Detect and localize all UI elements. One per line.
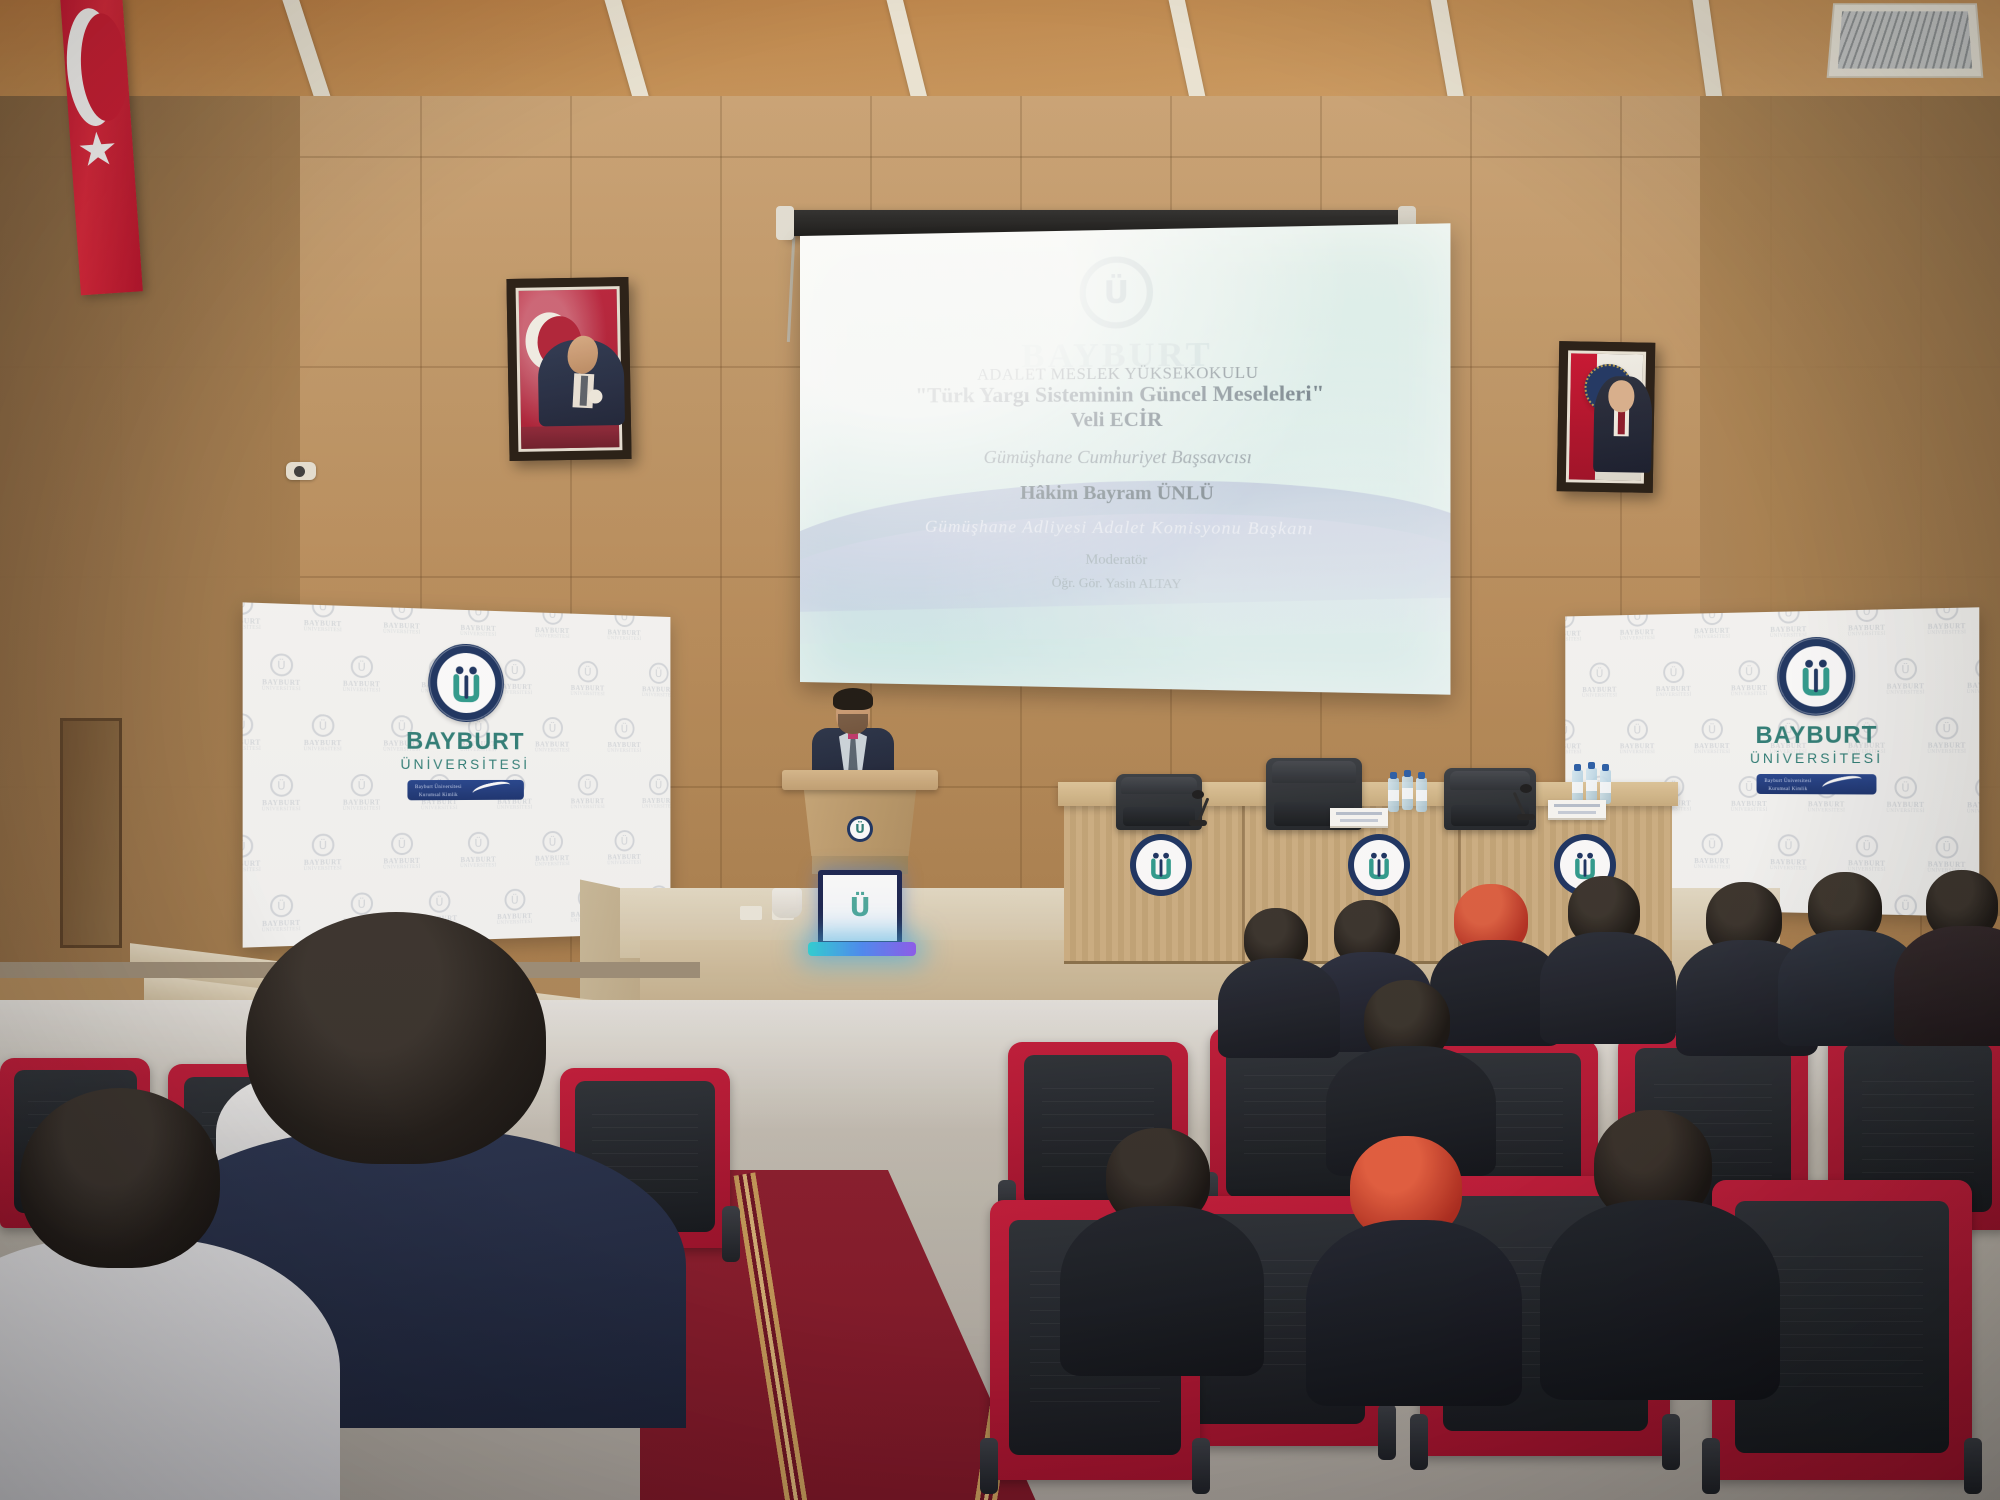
tile-sub-label: ÜNİVERSİTESİ: [243, 868, 262, 874]
tile-label: BAYBURT: [1928, 741, 1966, 749]
tile-seal-icon: Ü: [1565, 719, 1574, 740]
side-door[interactable]: [60, 718, 122, 948]
tile-sub-label: ÜNİVERSİTESİ: [1808, 808, 1846, 813]
vent-grille: [1838, 11, 1972, 68]
tile-seal-glyph: Ü: [1901, 662, 1909, 675]
backdrop-tile-1-26: ÜBAYBURTÜNİVERSİTESİ: [304, 833, 343, 872]
panel-name-card-1: [1330, 808, 1388, 828]
bottle-cap: [1602, 764, 1609, 771]
audience-person-11: [1560, 1110, 1760, 1390]
tile-seal-glyph: Ü: [398, 837, 406, 850]
bottle-label: [1388, 790, 1399, 801]
tile-label: BAYBURT: [642, 797, 670, 805]
backdrop-tile-2-14: ÜBAYBURTÜNİVERSİTESİ: [1620, 719, 1656, 755]
tile-sub-label: ÜNİVERSİTESİ: [642, 805, 671, 810]
tile-seal-glyph: Ü: [319, 838, 327, 852]
backdrop-tile-2-13: ÜBAYBURTÜNİVERSİTESİ: [1565, 719, 1581, 755]
tile-sub-label: ÜNİVERSİTESİ: [1967, 690, 1980, 696]
bottle-label: [1600, 782, 1611, 793]
ataturk-portrait-art: ★: [516, 286, 623, 452]
tile-seal-icon: Ü: [1701, 718, 1722, 740]
tile-label: BAYBURT: [608, 741, 641, 749]
tile-seal-icon: Ü: [312, 714, 335, 737]
backdrop-tile-1-2: ÜBAYBURTÜNİVERSİTESİ: [304, 602, 343, 633]
tile-sub-label: ÜNİVERSİTESİ: [570, 805, 605, 810]
lectern-led-panel: Ü: [818, 870, 902, 946]
tile-seal-icon: Ü: [270, 653, 293, 676]
logo-monogram-icon: [1130, 834, 1192, 896]
backdrop-tile-2-8: ÜBAYBURTÜNİVERSİTESİ: [1656, 661, 1692, 698]
logo-svg: [1362, 848, 1396, 882]
tile-seal-glyph: Ü: [655, 778, 662, 790]
wall-motion-sensor-icon: [286, 462, 316, 480]
backdrop-tile-1-23: ÜBAYBURTÜNİVERSİTESİ: [570, 774, 605, 810]
mic-base: [1189, 820, 1207, 826]
tile-sub-label: ÜNİVERSİTESİ: [383, 630, 420, 636]
water-bottle-1: [1388, 778, 1399, 812]
water-bottle-5: [1586, 768, 1597, 802]
tile-label: BAYBURT: [304, 739, 342, 747]
audience-person-10-red-hat: [1324, 1136, 1504, 1396]
backdrop-tile-2-11: ÜBAYBURTÜNİVERSİTESİ: [1886, 658, 1924, 696]
person-body: [1540, 1200, 1780, 1400]
tile-sub-label: ÜNİVERSİTESİ: [1967, 809, 1980, 814]
tile-seal-glyph: Ü: [277, 779, 285, 793]
president-head: [1608, 380, 1635, 412]
foreground-head-left: [20, 1088, 220, 1268]
banner-swoosh-icon: [1821, 774, 1863, 793]
tile-seal-glyph: Ü: [358, 779, 366, 792]
tile-sub-label: ÜNİVERSİTESİ: [343, 807, 381, 812]
water-bottle-2: [1402, 776, 1413, 810]
panel-table-logo-2: [1348, 834, 1410, 896]
chair-headrest: [1450, 771, 1531, 790]
backdrop-left-sub: ÜNİVERSİTESİ: [400, 756, 529, 772]
tile-sub-label: ÜNİVERSİTESİ: [1582, 694, 1617, 699]
person-body: [1218, 958, 1340, 1058]
bottle-label: [1402, 788, 1413, 799]
backdrop-right-seal-icon: [1777, 636, 1855, 716]
tile-sub-label: ÜNİVERSİTESİ: [607, 749, 641, 754]
panel-table-logo-1: [1130, 834, 1192, 896]
panel-chair-3[interactable]: [1444, 768, 1536, 830]
name-card-line-2: [1558, 811, 1596, 814]
banner-text-1: Bayburt Üniversitesi: [415, 784, 462, 792]
tile-sub-label: ÜNİVERSİTESİ: [607, 861, 641, 866]
backdrop-tile-1-24: ÜBAYBURTÜNİVERSİTESİ: [642, 774, 671, 810]
tile-seal-icon: Ü: [1975, 657, 1979, 680]
person-body: [1060, 1206, 1264, 1376]
backdrop-right-banner-text: Bayburt Üniversitesi Kurumsal Kimlik: [1764, 778, 1811, 793]
tile-seal-icon: Ü: [578, 661, 598, 683]
bottle-cap: [1390, 772, 1397, 779]
backdrop-left-seal-icon: [428, 643, 504, 722]
tile-seal-icon: Ü: [350, 655, 372, 678]
banner-text-1: Bayburt Üniversitesi: [1764, 778, 1811, 786]
tile-sub-label: ÜNİVERSİTESİ: [343, 688, 381, 694]
tile-seal-icon: Ü: [391, 833, 413, 856]
water-bottle-4: [1572, 770, 1583, 804]
mic-base: [1517, 814, 1535, 820]
backdrop-tile-2-4: ÜBAYBURTÜNİVERSİTESİ: [1770, 607, 1807, 639]
tile-seal-glyph: Ü: [435, 895, 443, 908]
ataturk-portrait-frame: ★: [506, 277, 631, 461]
backdrop-right-sub: ÜNİVERSİTESİ: [1750, 750, 1883, 766]
tile-sub-label: ÜNİVERSİTESİ: [1565, 750, 1581, 755]
backdrop-left-brand: BAYBURT ÜNİVERSİTESİ Bayburt Üniversites…: [400, 642, 529, 800]
tile-label: BAYBURT: [343, 798, 380, 806]
tile-seal-glyph: Ü: [1863, 840, 1871, 853]
audience-person-6: [1908, 870, 2000, 1020]
seat-armrest-right: [1192, 1438, 1210, 1494]
lectern: Ü Ü: [790, 770, 930, 905]
tile-sub-label: ÜNİVERSİTESİ: [607, 636, 641, 642]
tile-seal-icon: Ü: [1663, 661, 1684, 683]
tile-label: BAYBURT: [243, 738, 261, 747]
tile-seal-icon: Ü: [1935, 717, 1958, 740]
bottle-label: [1416, 790, 1427, 801]
foreground-audience-head-left: [0, 1088, 260, 1500]
tile-sub-label: ÜNİVERSİTESİ: [304, 866, 343, 872]
person-body: [1894, 926, 2000, 1046]
portrait-desk: [521, 425, 619, 449]
tile-seal-icon: Ü: [614, 830, 634, 852]
tile-seal-glyph: Ü: [1565, 724, 1568, 737]
tile-label: BAYBURT: [1731, 800, 1767, 808]
logo-monogram-icon: [1348, 834, 1410, 896]
backdrop-tile-1-8: ÜBAYBURTÜNİVERSİTESİ: [343, 655, 381, 694]
tile-sub-label: ÜNİVERSİTESİ: [1656, 693, 1692, 698]
backdrop-tile-1-28: ÜBAYBURTÜNİVERSİTESİ: [460, 832, 496, 869]
housing-end-cap-left: [776, 206, 794, 240]
tile-seal-glyph: Ü: [1943, 840, 1951, 853]
tile-sub-label: ÜNİVERSİTESİ: [262, 807, 301, 812]
tile-sub-label: ÜNİVERSİTESİ: [1620, 750, 1656, 755]
chair-headrest: [1121, 777, 1197, 794]
tile-label: BAYBURT: [262, 799, 301, 808]
tile-sub-label: ÜNİVERSİTESİ: [421, 806, 458, 811]
tile-seal-glyph: Ü: [549, 835, 557, 848]
tile-seal-icon: Ü: [649, 774, 669, 795]
bottle-label: [1586, 780, 1597, 791]
bottle-cap: [1418, 772, 1425, 779]
lectern-led-logo-glyph: Ü: [849, 893, 870, 923]
tile-seal-icon: Ü: [614, 718, 634, 739]
chair-headrest: [1272, 761, 1356, 783]
tile-seal-glyph: Ü: [584, 665, 591, 678]
bottle-cap: [1404, 770, 1411, 777]
backdrop-left-blue-banner: Bayburt Üniversitesi Kurumsal Kimlik: [407, 780, 523, 800]
tile-seal-glyph: Ü: [358, 897, 366, 910]
seat-armrest-right: [1378, 1404, 1396, 1460]
tile-seal-glyph: Ü: [1708, 838, 1716, 851]
name-card-line-1: [1336, 812, 1382, 815]
tile-seal-icon: Ü: [1975, 776, 1979, 799]
backdrop-tile-1-13: ÜBAYBURTÜNİVERSİTESİ: [243, 713, 262, 752]
backdrop-left-banner-text: Bayburt Üniversitesi Kurumsal Kimlik: [415, 784, 462, 799]
audience-person-9: [1076, 1128, 1246, 1368]
panel-name-card-2: [1548, 800, 1606, 820]
tile-seal-glyph: Ü: [277, 658, 285, 672]
backdrop-tile-1-30: ÜBAYBURTÜNİVERSİTESİ: [607, 830, 641, 866]
tile-label: BAYBURT: [1694, 742, 1730, 750]
backdrop-tile-2-23: ÜBAYBURTÜNİVERSİTESİ: [1886, 776, 1924, 814]
backdrop-tile-1-25: ÜBAYBURTÜNİVERSİTESİ: [243, 834, 262, 873]
tile-sub-label: ÜNİVERSİTESİ: [535, 634, 570, 640]
chair-seat-pad: [1123, 807, 1195, 826]
projection-screen: Ü BAYBURT ADALET MESLEK YÜKSEKOKULU "Tür…: [800, 223, 1450, 694]
backdrop-tile-2-24: ÜBAYBURTÜNİVERSİTESİ: [1967, 776, 1980, 814]
banner-swoosh-icon: [471, 780, 511, 799]
tile-sub-label: ÜNİVERSİTESİ: [262, 686, 301, 692]
backdrop-right-brand: BAYBURT ÜNİVERSİTESİ Bayburt Üniversites…: [1750, 636, 1883, 795]
tile-sub-label: ÜNİVERSİTESİ: [243, 747, 262, 752]
tile-label: BAYBURT: [1967, 681, 1979, 690]
backdrop-right-name: BAYBURT: [1750, 721, 1883, 750]
backdrop-tile-1-14: ÜBAYBURTÜNİVERSİTESİ: [304, 714, 343, 752]
tile-seal-glyph: Ü: [1596, 667, 1604, 680]
backdrop-tile-2-6: ÜBAYBURTÜNİVERSİTESİ: [1927, 607, 1966, 636]
backdrop-left-name: BAYBURT: [400, 727, 529, 756]
tile-seal-icon: Ü: [468, 832, 489, 854]
tile-seal-icon: Ü: [542, 831, 563, 853]
ceiling-beam-1: [282, 0, 334, 112]
tile-seal-glyph: Ü: [584, 778, 591, 791]
tile-sub-label: ÜNİVERSİTESİ: [1927, 630, 1966, 636]
tile-seal-glyph: Ü: [621, 834, 628, 847]
backdrop-tile-2-12: ÜBAYBURTÜNİVERSİTESİ: [1967, 656, 1980, 695]
tile-seal-glyph: Ü: [1633, 723, 1641, 736]
tile-sub-label: ÜNİVERSİTESİ: [1770, 866, 1807, 872]
backdrop-tile-1-11: ÜBAYBURTÜNİVERSİTESİ: [570, 661, 605, 698]
tile-seal-icon: Ü: [1778, 834, 1800, 856]
sensor-lens-icon: [294, 466, 305, 477]
speaker-hair: [833, 688, 873, 710]
tile-seal-glyph: Ü: [655, 667, 662, 680]
tile-seal-icon: Ü: [312, 834, 335, 857]
seat-armrest-left: [980, 1438, 998, 1494]
foreground-head: [246, 912, 546, 1164]
tile-seal-glyph: Ü: [243, 718, 246, 732]
tile-sub-label: ÜNİVERSİTESİ: [460, 863, 496, 869]
backdrop-tile-1-20: ÜBAYBURTÜNİVERSİTESİ: [343, 774, 381, 812]
tile-seal-icon: Ü: [243, 602, 253, 615]
tile-seal-glyph: Ü: [549, 721, 557, 734]
tile-seal-icon: Ü: [1701, 833, 1722, 855]
banner-text-2: Kurumsal Kimlik: [1764, 785, 1811, 793]
tile-seal-icon: Ü: [243, 835, 253, 858]
backdrop-tile-1-7: ÜBAYBURTÜNİVERSİTESİ: [262, 653, 301, 692]
tile-label: BAYBURT: [1808, 800, 1845, 808]
tile-sub-label: ÜNİVERSİTESİ: [1694, 750, 1730, 755]
backdrop-right-blue-banner: Bayburt Üniversitesi Kurumsal Kimlik: [1757, 774, 1877, 795]
backdrop-tile-2-29: ÜBAYBURTÜNİVERSİTESİ: [1848, 835, 1886, 873]
lectern-led-screen: Ü: [823, 875, 897, 941]
lectern-emblem-glyph: Ü: [847, 816, 873, 842]
backdrop-tile-1-27: ÜBAYBURTÜNİVERSİTESİ: [383, 833, 420, 871]
tile-sub-label: ÜNİVERSİTESİ: [1620, 636, 1656, 642]
tile-seal-glyph: Ü: [277, 899, 285, 913]
seat-armrest-right: [722, 1206, 740, 1262]
backdrop-tile-2-5: ÜBAYBURTÜNİVERSİTESİ: [1848, 607, 1886, 637]
tile-sub-label: ÜNİVERSİTESİ: [1927, 750, 1966, 755]
backdrop-tile-2-18: ÜBAYBURTÜNİVERSİTESİ: [1927, 717, 1966, 755]
tile-sub-label: ÜNİVERSİTESİ: [535, 748, 570, 753]
water-bottle-3: [1416, 778, 1427, 812]
backdrop-tile-1-12: ÜBAYBURTÜNİVERSİTESİ: [642, 662, 671, 698]
tile-sub-label: ÜNİVERSİTESİ: [304, 627, 343, 633]
tile-seal-icon: Ü: [1894, 658, 1917, 681]
tile-sub-label: ÜNİVERSİTESİ: [497, 806, 533, 811]
tile-seal-icon: Ü: [270, 774, 293, 797]
backdrop-tile-2-28: ÜBAYBURTÜNİVERSİTESİ: [1770, 834, 1807, 872]
tile-seal-icon: Ü: [1894, 776, 1917, 799]
tile-seal-glyph: Ü: [243, 839, 246, 853]
president-portrait-frame: ★: [1557, 341, 1656, 493]
tile-seal-icon: Ü: [312, 602, 335, 617]
logo-svg: [1144, 848, 1178, 882]
tile-label: BAYBURT: [1887, 801, 1925, 809]
person-body: [1306, 1220, 1522, 1406]
bottle-cap: [1588, 762, 1595, 769]
tile-seal-icon: Ü: [578, 774, 598, 795]
person-body: [1540, 932, 1676, 1044]
tile-label: BAYBURT: [571, 797, 605, 805]
water-bottle-6: [1600, 770, 1611, 804]
backdrop-tile-2-7: ÜBAYBURTÜNİVERSİTESİ: [1582, 662, 1617, 699]
tile-sub-label: ÜNİVERSİTESİ: [243, 625, 262, 631]
tile-seal-icon: Ü: [649, 662, 669, 684]
lectern-led-glow-strip: [808, 942, 916, 956]
tile-label: BAYBURT: [1967, 801, 1979, 809]
backdrop-tile-1-29: ÜBAYBURTÜNİVERSİTESİ: [535, 831, 570, 868]
tile-seal-glyph: Ü: [511, 893, 519, 906]
backdrop-tile-1-18: ÜBAYBURTÜNİVERSİTESİ: [607, 718, 641, 754]
tile-sub-label: ÜNİVERSİTESİ: [460, 632, 496, 638]
tile-seal-glyph: Ü: [474, 836, 482, 849]
screen-glare: [800, 223, 1450, 694]
tile-sub-label: ÜNİVERSİTESİ: [304, 747, 343, 752]
tile-seal-glyph: Ü: [1708, 723, 1716, 736]
president-portrait-art: ★: [1566, 350, 1646, 483]
lectern-top-surface: [782, 770, 938, 790]
seal-monogram-icon: [1777, 636, 1855, 716]
tile-seal-icon: Ü: [504, 889, 525, 911]
backdrop-tile-1-17: ÜBAYBURTÜNİVERSİTESİ: [535, 717, 570, 754]
tile-sub-label: ÜNİVERSİTESİ: [1731, 808, 1768, 813]
banner-text-2: Kurumsal Kimlik: [415, 792, 462, 800]
tile-seal-icon: Ü: [1589, 662, 1610, 684]
tile-seal-icon: Ü: [542, 717, 563, 739]
tile-label: BAYBURT: [1565, 743, 1581, 751]
backdrop-tile-2-27: ÜBAYBURTÜNİVERSİTESİ: [1694, 833, 1730, 870]
lectern-emblem-icon: Ü: [847, 816, 873, 842]
tile-seal-icon: Ü: [1856, 835, 1878, 858]
tile-seal-glyph: Ü: [1670, 666, 1678, 679]
mic-head-icon: [1192, 790, 1204, 799]
tile-seal-glyph: Ü: [1901, 781, 1909, 794]
audience-person-3: [1552, 876, 1662, 1026]
seal-svg: [1793, 653, 1839, 700]
tile-sub-label: ÜNİVERSİTESİ: [642, 693, 671, 698]
tile-sub-label: ÜNİVERSİTESİ: [1565, 637, 1581, 642]
tile-seal-icon: Ü: [429, 890, 451, 913]
wall-socket-left: [740, 906, 762, 920]
tile-sub-label: ÜNİVERSİTESİ: [1694, 865, 1730, 871]
seal-monogram-icon: [428, 643, 504, 722]
bottle-label: [1572, 782, 1583, 793]
tile-seal-glyph: Ü: [1943, 607, 1951, 616]
tile-sub-label: ÜNİVERSİTESİ: [1694, 635, 1730, 641]
foreground-audience-head-main: [246, 912, 546, 1242]
seat-armrest-right: [1964, 1438, 1982, 1494]
tile-seal-glyph: Ü: [319, 719, 327, 732]
seat-armrest-left: [1410, 1414, 1428, 1470]
tile-sub-label: ÜNİVERSİTESİ: [1886, 690, 1924, 695]
tile-label: BAYBURT: [535, 741, 569, 749]
tile-seal-icon: Ü: [1935, 836, 1958, 859]
backdrop-tile-1-1: ÜBAYBURTÜNİVERSİTESİ: [243, 602, 262, 631]
audience-person-7: [1228, 908, 1328, 1038]
tile-seal-glyph: Ü: [621, 722, 628, 735]
backdrop-tile-2-30: ÜBAYBURTÜNİVERSİTESİ: [1927, 836, 1966, 875]
flag-star-icon: ★: [75, 125, 119, 174]
name-card-line-2: [1340, 819, 1378, 822]
tile-seal-icon: Ü: [1627, 719, 1648, 741]
audience-person-8: [1340, 980, 1480, 1160]
tile-sub-label: ÜNİVERSİTESİ: [383, 865, 420, 871]
seat-armrest-right: [1662, 1414, 1680, 1470]
backdrop-tile-1-19: ÜBAYBURTÜNİVERSİTESİ: [262, 774, 301, 813]
backdrop-tile-2-15: ÜBAYBURTÜNİVERSİTESİ: [1694, 718, 1730, 755]
audience-person-5: [1788, 872, 1908, 1022]
name-card-line-1: [1554, 804, 1600, 807]
tile-seal-icon: Ü: [350, 774, 372, 797]
mic-head-icon: [1520, 784, 1532, 793]
tile-seal-icon: Ü: [1856, 607, 1878, 622]
tile-label: BAYBURT: [1620, 742, 1655, 750]
conference-hall-photo: ★ ★ ★: [0, 0, 2000, 1500]
ceiling-ac-vent: [1827, 3, 1984, 78]
tile-sub-label: ÜNİVERSİTESİ: [570, 692, 605, 697]
tile-sub-label: ÜNİVERSİTESİ: [535, 862, 570, 868]
tile-seal-glyph: Ü: [243, 602, 246, 610]
wall-panel-seam-5: [720, 96, 722, 976]
tile-seal-glyph: Ü: [1943, 721, 1951, 734]
tile-seal-icon: Ü: [1935, 607, 1958, 620]
tile-seal-glyph: Ü: [358, 660, 366, 673]
speaker-beard: [838, 714, 868, 734]
tile-sub-label: ÜNİVERSİTESİ: [1886, 809, 1924, 814]
bottle-cap: [1574, 764, 1581, 771]
backdrop-tile-1-3: ÜBAYBURTÜNİVERSİTESİ: [383, 602, 420, 635]
seal-svg: [444, 659, 489, 706]
tile-seal-glyph: Ü: [1784, 839, 1792, 852]
seat-armrest-left: [1702, 1438, 1720, 1494]
tile-seal-icon: Ü: [243, 713, 253, 736]
